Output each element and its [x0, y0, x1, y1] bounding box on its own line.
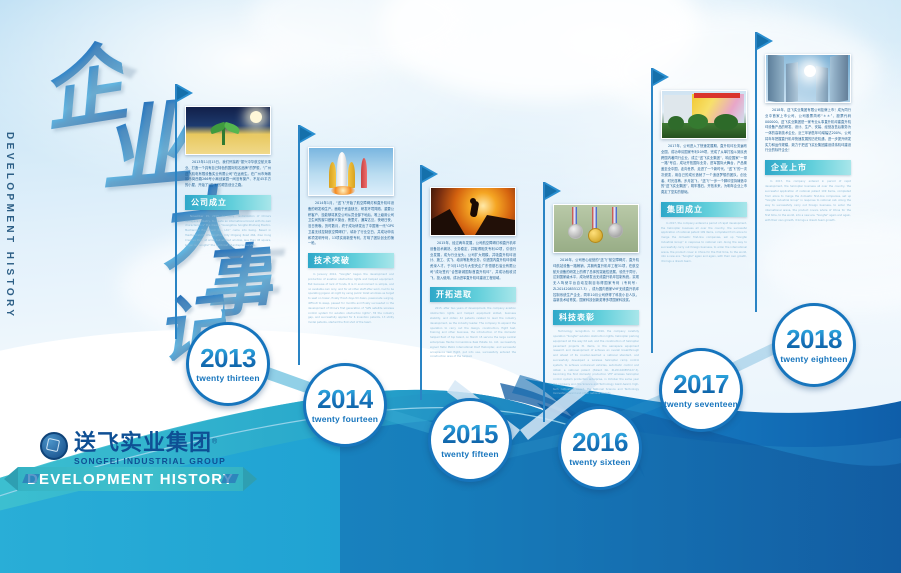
ribbon-right-tail	[243, 467, 257, 491]
milestone-heading-2013: 公司成立	[185, 195, 271, 210]
year-number-2016: 2016	[572, 429, 628, 455]
year-circle-2013[interactable]: 2013 twenty thirteen	[186, 322, 270, 406]
ribbon-left-tail	[4, 467, 18, 491]
year-number-2017: 2017	[673, 371, 729, 397]
milestone-body-cn-2013: 2013年11月15日，我们怀揣着“振兴中华航空航天事业、打造一个具有自己特色的…	[185, 160, 271, 189]
milestone-photo-2015	[430, 187, 516, 236]
development-history-ribbon: DEVELOPMENT HISTORY	[18, 467, 243, 491]
milestone-body-cn-2014: 2014年1月，“送飞”开始了航空障碍灯和直升机坪设备的研发和生产。面临于资金缺…	[308, 201, 394, 247]
flag-banner-inner-icon	[422, 167, 434, 181]
logo-name-en: SONGFEI INDUSTRIAL GROUP	[74, 456, 226, 466]
milestone-body-en-2013: November 15, 2013, we carry "revitalizat…	[185, 215, 271, 249]
milestone-heading-2015: 开拓进取	[430, 287, 516, 302]
year-circle-2014[interactable]: 2014 twenty fourteen	[303, 363, 387, 447]
year-number-2018: 2018	[786, 326, 842, 352]
registered-trademark-icon: ®	[212, 439, 217, 446]
year-number-2015: 2015	[442, 421, 498, 447]
milestone-heading-2018: 企业上市	[765, 160, 851, 175]
milestone-photo-2018	[765, 54, 851, 103]
year-words-2016: twenty sixteen	[569, 457, 630, 467]
year-circle-2017[interactable]: 2017 twenty seventeen	[659, 348, 743, 432]
flag-banner-inner-icon	[545, 184, 557, 198]
milestone-body-cn-2015: 2015年，经过两年发展，公司航空障碍灯和直升机坪设备技术娴熟、业务稳定，并取得…	[430, 241, 516, 281]
year-circle-2016[interactable]: 2016 twenty sixteen	[558, 406, 642, 490]
year-number-2014: 2014	[317, 386, 373, 412]
flag-banner-inner-icon	[757, 34, 769, 48]
company-logo-plate: 送飞实业集团® SONGFEI INDUSTRIAL GROUP DEVELOP…	[40, 425, 260, 499]
logo-name-cn: 送飞实业集团	[74, 431, 212, 456]
ribbon-accent-right	[221, 474, 239, 483]
ribbon-label: DEVELOPMENT HISTORY	[27, 471, 234, 488]
year-circle-2015[interactable]: 2015 twenty fifteen	[428, 398, 512, 482]
milestone-body-en-2014: In January 2014, "Songfei" began the dev…	[308, 273, 394, 326]
milestone-photo-2016	[553, 204, 639, 253]
logo-name-cn-row: 送飞实业集团®	[74, 425, 226, 457]
development-history-poster: 企 业 大 事 记 DEVELOPMENT HISTORY 2013年11月15…	[0, 0, 901, 573]
year-words-2018: twenty eighteen	[780, 354, 847, 364]
milestone-body-cn-2017: 2017年，公司进入了快速发展期，直升机坪业务遍布全国，成功申请国家专利109项…	[661, 144, 747, 196]
year-words-2014: twenty fourteen	[312, 414, 378, 424]
year-number-2013: 2013	[200, 345, 256, 371]
year-words-2015: twenty fifteen	[441, 449, 499, 459]
flag-banner-inner-icon	[653, 70, 665, 84]
milestone-body-cn-2018: 2018年，送飞实业集团有限公司挂牌上市！成为同行业中首家上市公司，公司股票简称…	[765, 108, 851, 154]
flag-banner-inner-icon	[300, 127, 312, 141]
year-words-2017: twenty seventeen	[664, 399, 738, 409]
company-emblem-icon	[40, 432, 68, 460]
year-words-2013: twenty thirteen	[196, 373, 259, 383]
milestone-heading-2017: 集团成立	[661, 202, 747, 217]
milestone-body-cn-2016: 2016年，公司悉心经营的“送飞”航空障碍灯、直升机坪航站设备一路畅销，并拥有直…	[553, 258, 639, 304]
flag-banner-inner-icon	[177, 86, 189, 100]
milestone-body-en-2018: In 2017, the company entered in period o…	[765, 180, 851, 223]
title-subtitle-en: DEVELOPMENT HISTORY	[4, 132, 15, 319]
milestone-photo-2014	[308, 147, 394, 196]
logo-row: 送飞实业集团® SONGFEI INDUSTRIAL GROUP	[40, 425, 260, 466]
milestone-photo-2013	[185, 106, 271, 155]
milestone-photo-2017	[661, 90, 747, 139]
milestone-heading-2014: 技术突破	[308, 253, 394, 268]
milestone-heading-2016: 科技表彰	[553, 310, 639, 325]
milestone-body-en-2016: Technology recognition. In 2016, the com…	[553, 330, 639, 397]
milestone-body-en-2017: In 2017, the company entered a period of…	[661, 222, 747, 265]
milestone-body-en-2015: 2015, after two years of development, th…	[430, 307, 516, 360]
year-circle-2018[interactable]: 2018 twenty eighteen	[772, 303, 856, 387]
